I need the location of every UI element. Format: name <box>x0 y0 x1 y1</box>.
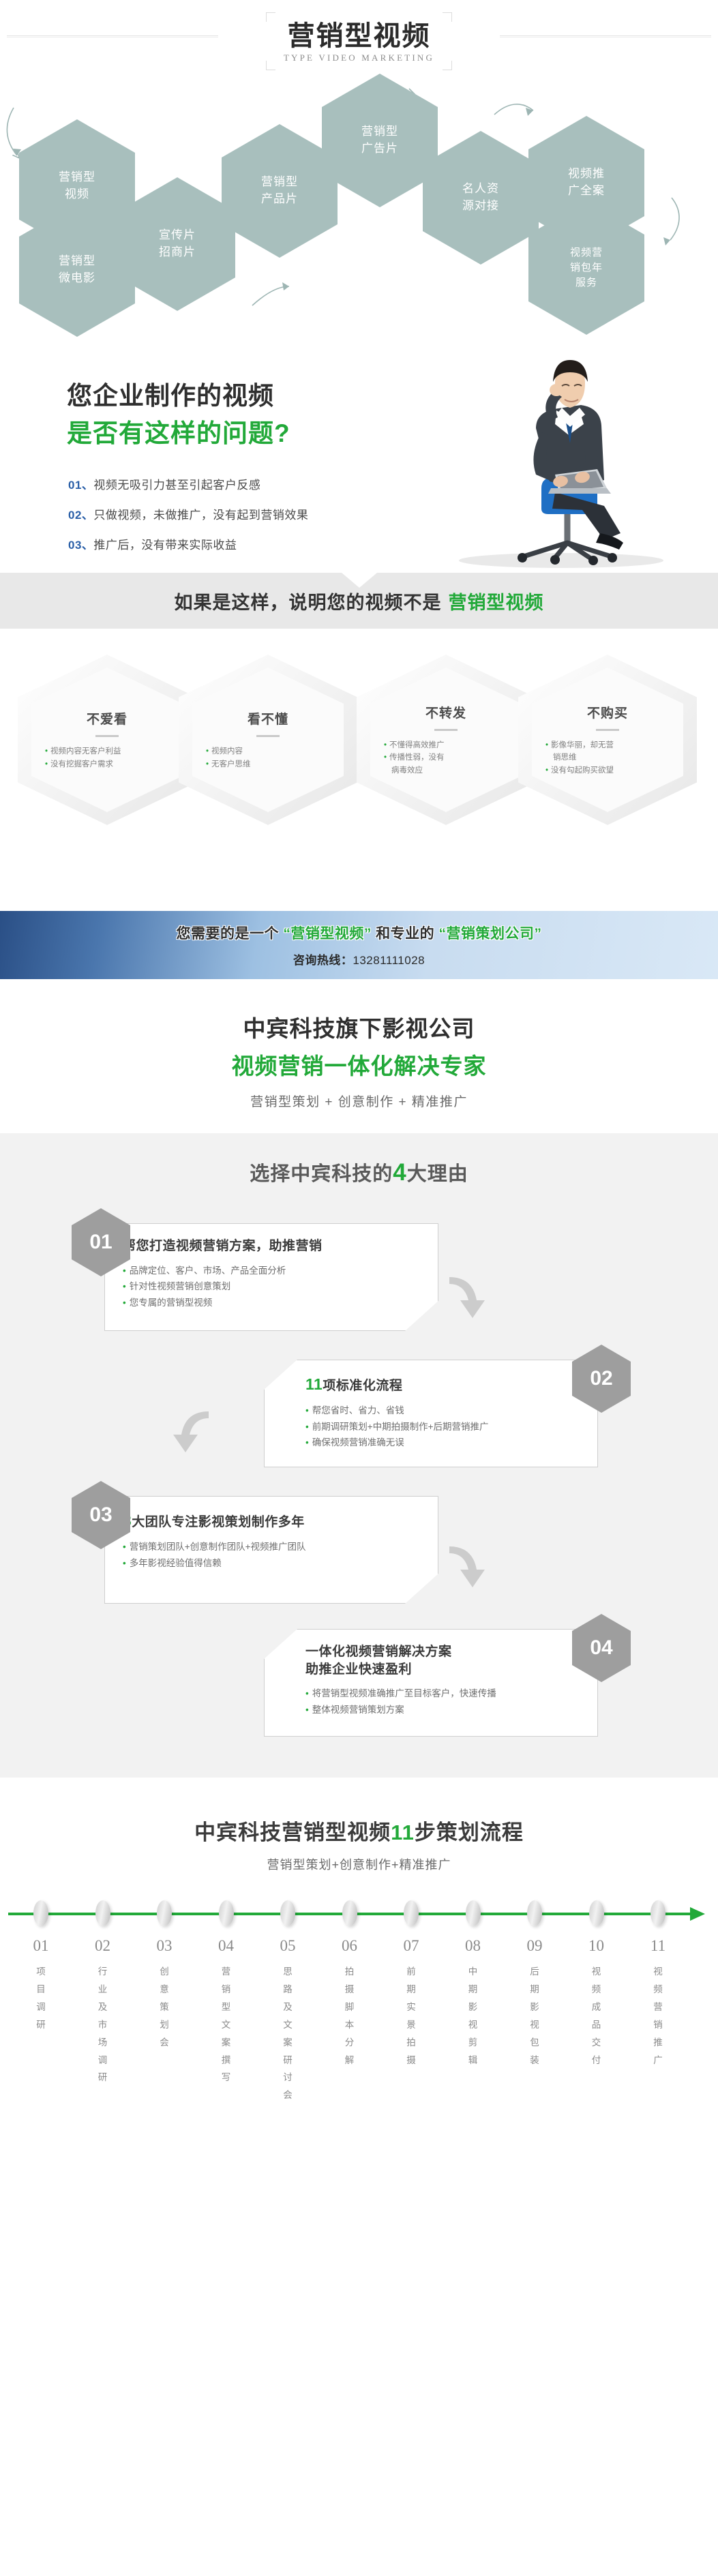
timeline-step-number: 02 <box>74 1937 132 1955</box>
page-header: 营销型视频 TYPE VIDEO MARKETING <box>0 0 718 82</box>
reason-heading-text: 帮您打造视频营销方案，助推营销 <box>123 1239 323 1253</box>
bullet-text: 针对性视频营销创意策划 <box>130 1281 231 1291</box>
timeline-node-icon <box>650 1900 665 1926</box>
timeline-step-label: 营销型文案撰写 <box>221 1963 232 2086</box>
problem-item: 01、视频无吸引力甚至引起客户反感 <box>68 475 308 492</box>
timeline-step[interactable]: 04营销型文案撰写 <box>198 1902 255 2086</box>
gray-banner-accent: 营销型视频 <box>449 593 544 613</box>
flow-subtitle: 营销型策划+创意制作+精准推广 <box>0 1855 718 1873</box>
hex-card-title: 不爱看 <box>87 709 128 728</box>
timeline-step[interactable]: 06拍摄脚本分解 <box>321 1902 378 2069</box>
reason-bullet: •前期调研策划+中期拍摄制作+后期营销推广 <box>305 1419 580 1435</box>
hotline-number[interactable]: 13281111028 <box>353 954 425 967</box>
reason-bullet: •您专属的营销型视频 <box>123 1295 420 1311</box>
company-title-line2: 视频营销一体化解决专家 <box>0 1048 718 1081</box>
problem-item-number: 01、 <box>68 479 93 492</box>
reason-card-04[interactable]: 04 一体化视频营销解决方案 助推企业快速盈利 •将营销型视频准确推广至目标客户… <box>249 1614 631 1737</box>
problem-item-number: 03、 <box>68 539 93 552</box>
timeline-step-label: 项目调研 <box>35 1963 46 2034</box>
hex-card-bullet: •没有勾起购买欲望 <box>543 764 672 777</box>
timeline-step-number: 09 <box>506 1937 563 1955</box>
bullet-dot-icon: • <box>206 760 209 768</box>
corner-bracket-icon <box>443 12 452 22</box>
bullet-text: 影像华丽，却无营 <box>551 741 614 749</box>
reason-bullet: •品牌定位、客户、市场、产品全面分析 <box>123 1263 420 1279</box>
timeline-step[interactable]: 10视频成品交付 <box>568 1902 625 2069</box>
bullet-text: 帮您省时、省力、省钱 <box>312 1405 404 1416</box>
problem-item-text: 视频无吸引力甚至引起客户反感 <box>93 479 260 492</box>
bullet-text: 视频内容无客户利益 <box>50 747 121 755</box>
hex-card-3[interactable]: 不转发 •不懂得高效推广 •传播性弱，没有 病毒效应 <box>357 655 535 825</box>
timeline-step-label: 前期实景拍摄 <box>406 1963 417 2069</box>
bullet-dot-icon: • <box>305 1705 309 1715</box>
hex-card-bullet: •无客户思维 <box>203 758 333 771</box>
bullet-dot-icon: • <box>305 1437 309 1448</box>
flow-arrow-2-icon <box>161 1407 211 1458</box>
reason-bullet: •针对性视频营销创意策划 <box>123 1278 420 1295</box>
cta-prefix: 您需要的是一个 <box>176 926 279 942</box>
bullet-dot-icon: • <box>123 1265 126 1276</box>
bullet-dot-icon: • <box>305 1688 309 1698</box>
hex-line-2: 招商片 <box>159 244 196 261</box>
timeline-step-number: 07 <box>383 1937 440 1955</box>
hex-line-1: 营销型 <box>361 123 398 140</box>
reasons-title-number: 4 <box>393 1159 406 1186</box>
reason-bullet: •营销策划团队+创意制作团队+视频推广团队 <box>123 1539 420 1555</box>
problem-title-line1: 您企业制作的视频 <box>67 375 274 412</box>
hex-line-2: 广全案 <box>568 183 605 200</box>
reason-panel: 帮您打造视频营销方案，助推营销 •品牌定位、客户、市场、产品全面分析 •针对性视… <box>104 1223 438 1331</box>
company-intro: 中宾科技旗下影视公司 视频营销一体化解决专家 营销型策划 + 创意制作 + 精准… <box>0 979 718 1133</box>
timeline-step[interactable]: 09后期影视包装 <box>506 1902 563 2069</box>
timeline-node-icon <box>342 1900 357 1926</box>
corner-bracket-icon <box>266 61 275 70</box>
banner-notch-icon <box>342 573 377 588</box>
gray-banner-main: 如果是这样，说明您的视频不是 <box>175 593 442 613</box>
hex-line-2: 源对接 <box>462 198 499 215</box>
reason-card-02[interactable]: 02 11项标准化流程 •帮您省时、省力、省钱 •前期调研策划+中期拍摄制作+后… <box>249 1345 631 1467</box>
reasons-title-prefix: 选择中宾科技的 <box>250 1163 393 1185</box>
bullet-dot-icon: • <box>545 741 548 749</box>
timeline-step[interactable]: 03创意策划会 <box>136 1902 193 2052</box>
hex-line-2: 微电影 <box>59 270 95 287</box>
hex-card-bullet: •视频内容 <box>203 745 333 758</box>
timeline-step-label: 视频营销推广 <box>653 1963 663 2069</box>
problem-item-number: 02、 <box>68 509 93 522</box>
timeline-step-number: 04 <box>198 1937 255 1955</box>
bullet-dot-icon: • <box>206 747 209 755</box>
header-title-box: 营销型视频 TYPE VIDEO MARKETING <box>266 12 452 70</box>
bullet-dot-icon: • <box>384 741 387 749</box>
service-hexagon-cluster: 营销型 视频 宣传片 招商片 营销型 产品片 营销型 广告片 名人资 源对接 视… <box>0 82 718 341</box>
problem-item-text: 只做视频，未做推广，没有起到营销效果 <box>93 509 308 522</box>
bullet-text: 多年影视经验值得信赖 <box>130 1558 222 1568</box>
hex-card-title: 不购买 <box>587 703 628 721</box>
timeline-step[interactable]: 05思路及文案研讨会 <box>259 1902 316 2104</box>
timeline-step-number: 03 <box>136 1937 193 1955</box>
hex-card-title: 看不懂 <box>248 709 288 728</box>
bullet-text: 病毒效应 <box>391 766 423 775</box>
flow-section: 中宾科技营销型视频11步策划流程 营销型策划+创意制作+精准推广 01项目调研0… <box>0 1778 718 2105</box>
reasons-section: 选择中宾科技的4大理由 01 帮您打造视频营销方案，助推营销 •品牌定位、客户、… <box>0 1133 718 1778</box>
timeline-node-icon <box>527 1900 542 1926</box>
bullet-text: 确保视频营销准确无误 <box>312 1437 404 1448</box>
flow-title-suffix: 步策划流程 <box>415 1821 524 1844</box>
spacer <box>0 629 718 655</box>
reason-heading: 3大团队专注影视策划制作多年 <box>123 1510 420 1531</box>
timeline-arrowhead-icon <box>690 1907 705 1921</box>
divider <box>434 729 458 731</box>
problem-item: 02、只做视频，未做推广，没有起到营销效果 <box>68 505 308 522</box>
reason-panel: 11项标准化流程 •帮您省时、省力、省钱 •前期调研策划+中期拍摄制作+后期营销… <box>264 1360 598 1467</box>
problem-section: 您企业制作的视频 是否有这样的问题? 01、视频无吸引力甚至引起客户反感 02、… <box>0 341 718 573</box>
hex-card-bullet: •影像华丽，却无营 <box>543 739 672 752</box>
hex-card-bullet: •没有挖掘客户需求 <box>42 758 172 771</box>
timeline-step-number: 05 <box>259 1937 316 1955</box>
bullet-text: 品牌定位、客户、市场、产品全面分析 <box>130 1265 286 1276</box>
businessman-photo <box>421 348 680 573</box>
timeline-step[interactable]: 07前期实景拍摄 <box>383 1902 440 2069</box>
bullet-text: 您专属的营销型视频 <box>130 1298 213 1308</box>
reason-heading: 11项标准化流程 <box>305 1374 580 1395</box>
timeline-node-icon <box>157 1900 172 1926</box>
problem-item: 03、推广后，没有带来实际收益 <box>68 535 308 552</box>
hex-line-1: 营销型 <box>59 253 95 270</box>
bullet-dot-icon: • <box>545 766 548 775</box>
gray-banner: 如果是这样，说明您的视频不是营销型视频 <box>0 573 718 629</box>
flow-arrow-3-icon <box>447 1542 497 1593</box>
hex-card-title: 不转发 <box>425 703 466 721</box>
reason-heading: 一体化视频营销解决方案 助推企业快速盈利 <box>305 1643 580 1678</box>
hex-line-1: 宣传片 <box>159 227 196 244</box>
bullet-dot-icon: • <box>123 1281 126 1291</box>
hex-line-1: 营销型 <box>261 174 298 191</box>
divider <box>596 729 619 731</box>
bullet-dot-icon: • <box>45 747 48 755</box>
bullet-text: 无客户思维 <box>211 760 251 768</box>
hex-card-bullet: •视频内容无客户利益 <box>42 745 172 758</box>
cta-quote-2: “营销策划公司” <box>439 926 542 942</box>
page-title: 营销型视频 <box>284 22 434 50</box>
timeline-node-icon <box>589 1900 604 1926</box>
company-title-line1: 中宾科技旗下影视公司 <box>0 1010 718 1043</box>
bullet-text: 将营销型视频准确推广至目标客户，快速传播 <box>312 1688 496 1698</box>
bullet-dot-icon: • <box>384 753 387 762</box>
corner-bracket-icon <box>443 61 452 70</box>
hex-card-bullet: 销思维 <box>543 751 672 764</box>
bullet-dot-icon: • <box>123 1298 126 1308</box>
timeline-step[interactable]: 11视频营销推广 <box>629 1902 687 2069</box>
timeline-step-label: 行业及市场调研 <box>98 1963 108 2086</box>
hex-service-2[interactable]: 宣传片 招商片 <box>119 177 235 311</box>
hex-line-2: 产品片 <box>261 191 298 208</box>
hotline-label: 咨询热线： <box>293 954 353 967</box>
divider <box>95 735 119 737</box>
timeline-node-icon <box>33 1900 48 1926</box>
reason-bullet: •多年影视经验值得信赖 <box>123 1555 420 1572</box>
hex-line-2: 视频 <box>59 186 95 203</box>
hex-line-3: 服务 <box>570 275 603 290</box>
cta-headline: 您需要的是一个 “营销型视频” 和专业的 “营销策划公司” <box>176 923 541 943</box>
hex-card-2[interactable]: 看不懂 •视频内容 •无客户思维 <box>179 655 357 825</box>
timeline-node-icon <box>280 1900 295 1926</box>
reason-bullet: •整体视频营销策划方案 <box>305 1702 580 1718</box>
timeline-step-label: 中期影视剪辑 <box>468 1963 479 2069</box>
reasons-title-suffix: 大理由 <box>407 1163 468 1185</box>
bullet-text: 营销策划团队+创意制作团队+视频推广团队 <box>130 1542 306 1552</box>
page-subtitle: TYPE VIDEO MARKETING <box>284 53 434 63</box>
hex-service-4[interactable]: 营销型 广告片 <box>322 74 438 207</box>
hotline-row: 咨询热线：13281111028 <box>293 950 425 968</box>
reason-heading-text: 项标准化流程 <box>323 1379 402 1393</box>
cta-middle: 和专业的 <box>376 926 434 942</box>
timeline-step-number: 01 <box>12 1937 70 1955</box>
problem-title-line2: 是否有这样的问题? <box>67 413 290 449</box>
divider <box>256 735 280 737</box>
hex-line-1: 视频推 <box>568 166 605 183</box>
hex-service-5[interactable]: 名人资 源对接 <box>423 131 539 265</box>
bullet-text: 整体视频营销策划方案 <box>312 1705 404 1715</box>
hex-card-1[interactable]: 不爱看 •视频内容无客户利益 •没有挖掘客户需求 <box>18 655 196 825</box>
reason-panel: 一体化视频营销解决方案 助推企业快速盈利 •将营销型视频准确推广至目标客户，快速… <box>264 1629 598 1737</box>
reason-heading-number: 11 <box>305 1375 323 1393</box>
timeline-step-label: 思路及文案研讨会 <box>282 1963 293 2104</box>
hex-line-2: 广告片 <box>361 140 398 158</box>
hex-line-1: 营销型 <box>59 169 95 186</box>
cta-quote-1: “营销型视频” <box>283 926 372 942</box>
gray-banner-text: 如果是这样，说明您的视频不是营销型视频 <box>175 588 544 614</box>
reasons-title: 选择中宾科技的4大理由 <box>0 1158 718 1186</box>
timeline-step-number: 10 <box>568 1937 625 1955</box>
bullet-text: 销思维 <box>553 753 577 762</box>
bullet-dot-icon: • <box>45 760 48 768</box>
corner-bracket-icon <box>266 12 275 22</box>
reason-card-01[interactable]: 01 帮您打造视频营销方案，助推营销 •品牌定位、客户、市场、产品全面分析 •针… <box>72 1208 453 1331</box>
bullet-dot-icon: • <box>123 1542 126 1552</box>
problem-list: 01、视频无吸引力甚至引起客户反感 02、只做视频，未做推广，没有起到营销效果 … <box>68 475 308 565</box>
reason-bullet: •帮您省时、省力、省钱 <box>305 1403 580 1419</box>
problem-item-text: 推广后，没有带来实际收益 <box>93 539 237 552</box>
hex-card-4[interactable]: 不购买 •影像华丽，却无营 销思维 •没有勾起购买欲望 <box>518 655 697 825</box>
flow-title-number: 11 <box>391 1821 415 1844</box>
bullet-text: 传播性弱，没有 <box>389 753 445 762</box>
timeline-step[interactable]: 01项目调研 <box>12 1902 70 2034</box>
timeline-step-number: 06 <box>321 1937 378 1955</box>
reason-bullet: •将营销型视频准确推广至目标客户，快速传播 <box>305 1686 580 1702</box>
timeline-step-label: 后期影视包装 <box>529 1963 540 2069</box>
header-rule-right <box>500 35 711 38</box>
bullet-text: 没有挖掘客户需求 <box>50 760 113 768</box>
bullet-text: 视频内容 <box>211 747 243 755</box>
bullet-dot-icon: • <box>305 1422 309 1432</box>
flow-timeline: 01项目调研02行业及市场调研03创意策划会04营销型文案撰写05思路及文案研讨… <box>0 1902 718 2106</box>
reason-panel: 3大团队专注影视策划制作多年 •营销策划团队+创意制作团队+视频推广团队 •多年… <box>104 1496 438 1604</box>
problem-hex-cards: 不爱看 •视频内容无客户利益 •没有挖掘客户需求 看不懂 •视频内容 •无客户思… <box>0 655 718 825</box>
reason-card-03[interactable]: 03 3大团队专注影视策划制作多年 •营销策划团队+创意制作团队+视频推广团队 … <box>72 1481 453 1604</box>
hex-line-1: 视频营 <box>570 245 603 260</box>
bullet-text: 不懂得高效推广 <box>389 741 445 749</box>
header-rule-left <box>7 35 218 38</box>
timeline-node-icon <box>95 1900 110 1926</box>
timeline-step[interactable]: 08中期影视剪辑 <box>445 1902 502 2069</box>
cta-blue-banner: 您需要的是一个 “营销型视频” 和专业的 “营销策划公司” 咨询热线：13281… <box>0 911 718 979</box>
reason-heading: 帮您打造视频营销方案，助推营销 <box>123 1238 420 1255</box>
bullet-dot-icon: • <box>123 1558 126 1568</box>
flow-arrow-1-icon <box>447 1273 497 1323</box>
hex-line-2: 销包年 <box>570 260 603 275</box>
hex-card-bullet: 病毒效应 <box>381 764 511 777</box>
timeline-step-number: 11 <box>629 1937 687 1955</box>
timeline-node-icon <box>404 1900 419 1926</box>
timeline-node-icon <box>219 1900 234 1926</box>
timeline-step-label: 拍摄脚本分解 <box>344 1963 355 2069</box>
reason-bullet: •确保视频营销准确无误 <box>305 1435 580 1451</box>
timeline-step-label: 视频成品交付 <box>591 1963 602 2069</box>
flow-title-prefix: 中宾科技营销型视频 <box>194 1821 391 1844</box>
hex-card-bullet: •不懂得高效推广 <box>381 739 511 752</box>
hex-service-3[interactable]: 营销型 产品片 <box>222 124 338 258</box>
flow-title: 中宾科技营销型视频11步策划流程 <box>0 1815 718 1846</box>
timeline-node-icon <box>466 1900 481 1926</box>
company-title-line3: 营销型策划 + 创意制作 + 精准推广 <box>0 1092 718 1110</box>
bullet-text: 没有勾起购买欲望 <box>551 766 614 775</box>
spacer <box>0 825 718 911</box>
timeline-step-number: 08 <box>445 1937 502 1955</box>
reason-heading-text: 大团队专注影视策划制作多年 <box>132 1515 305 1529</box>
bullet-dot-icon: • <box>305 1405 309 1416</box>
hex-line-1: 名人资 <box>462 181 499 198</box>
timeline-step-label: 创意策划会 <box>159 1963 170 2052</box>
bullet-text: 前期调研策划+中期拍摄制作+后期营销推广 <box>312 1422 489 1432</box>
hex-card-bullet: •传播性弱，没有 <box>381 751 511 764</box>
timeline-step[interactable]: 02行业及市场调研 <box>74 1902 132 2086</box>
